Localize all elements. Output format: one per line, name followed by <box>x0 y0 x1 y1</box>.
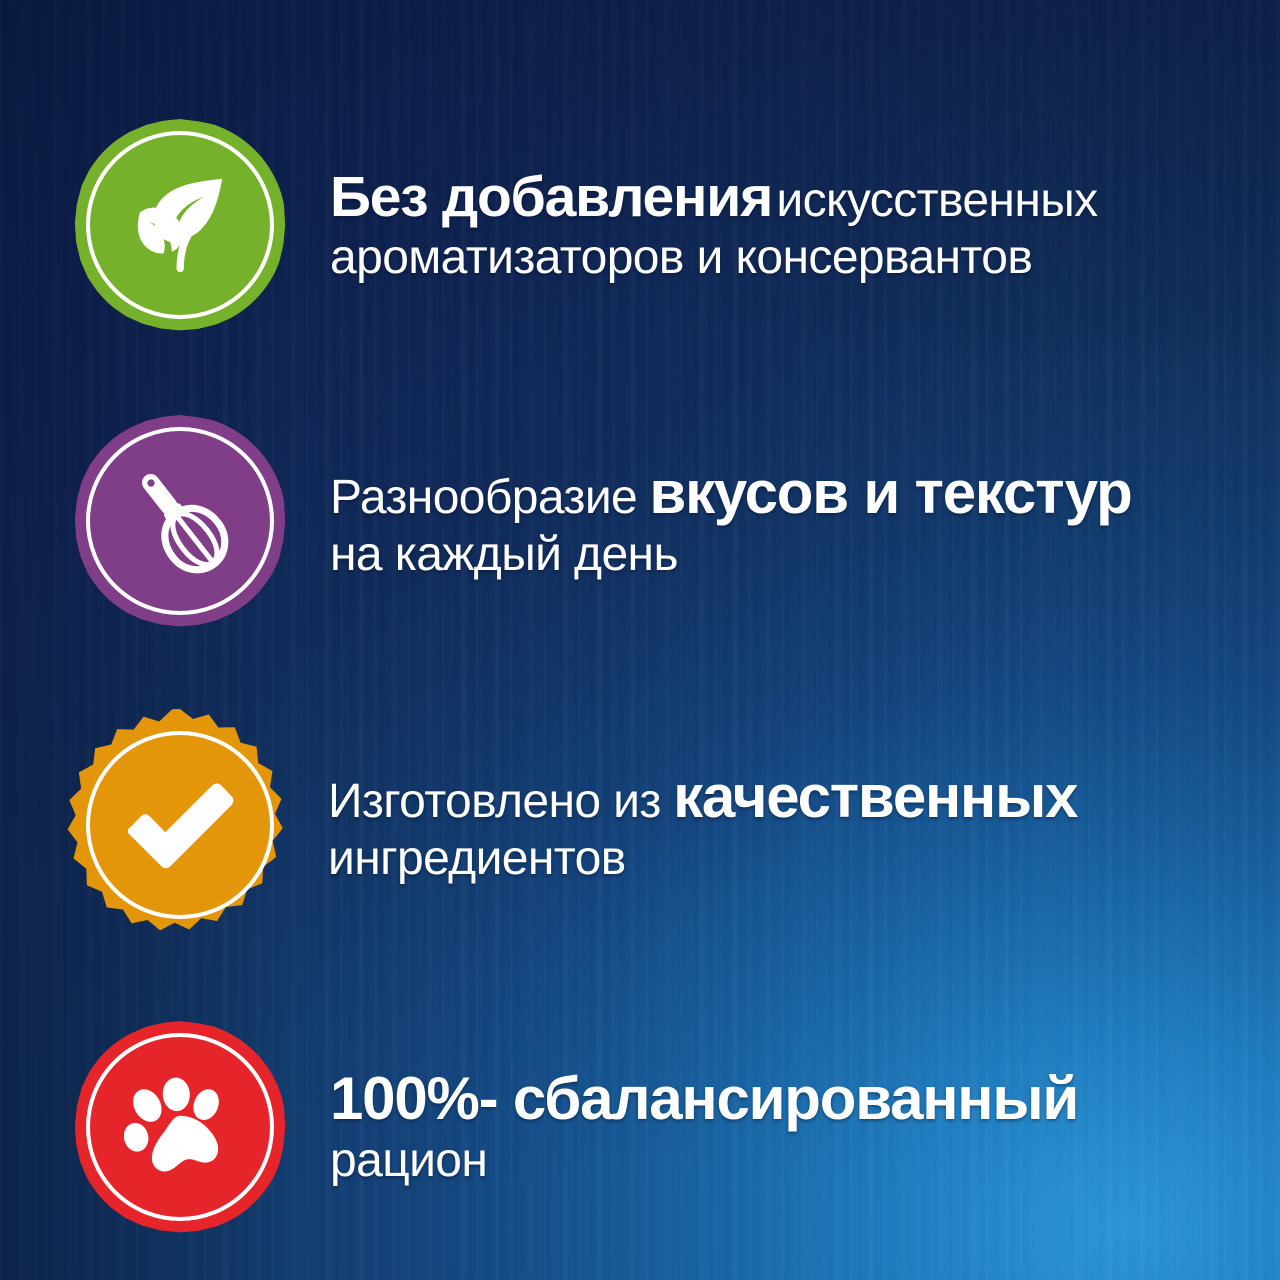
feature-line1-light: искусственных <box>776 174 1097 227</box>
feature-line1-light: Разнообразие <box>330 471 637 524</box>
feature-item-quality-ingredients: Изготовлено из качественных ингредиентов <box>0 700 1280 950</box>
checkmark-badge-icon <box>117 762 243 888</box>
feature-item-balanced-diet: 100%- сбалансированный рацион <box>0 1012 1280 1242</box>
feature-text-quality: Изготовлено из качественных ингредиентов <box>296 765 1280 885</box>
feature-line1-light: Изготовлено из <box>328 775 661 828</box>
feature-line1-strong: Без добавления <box>330 165 772 229</box>
feature-line2: рацион <box>330 1135 1220 1186</box>
whisk-icon <box>119 460 241 582</box>
feature-icon-badge-balanced <box>74 1021 286 1233</box>
feature-icon-badge-variety <box>74 415 286 627</box>
feature-item-variety: Разнообразие вкусов и текстур на каждый … <box>0 406 1280 636</box>
feature-line1-strong: качественных <box>673 763 1077 830</box>
paw-print-icon <box>124 1071 236 1183</box>
feature-text-variety: Разнообразие вкусов и текстур на каждый … <box>286 461 1280 581</box>
feature-text-balanced: 100%- сбалансированный рацион <box>286 1067 1280 1187</box>
feature-line2: ингредиентов <box>328 833 1220 884</box>
feature-icon-badge-no-additives <box>74 119 286 331</box>
feature-item-no-additives: Без добавления искусственных ароматизато… <box>0 110 1280 340</box>
feature-line2: на каждый день <box>330 529 1220 580</box>
feature-list: Без добавления искусственных ароматизато… <box>0 0 1280 1280</box>
feature-text-no-additives: Без добавления искусственных ароматизато… <box>286 167 1280 283</box>
feature-line1-strong: 100%- сбалансированный <box>330 1065 1078 1132</box>
feature-icon-badge-quality <box>64 709 296 941</box>
feature-line1-strong: вкусов и текстур <box>649 459 1131 526</box>
feature-line2: ароматизаторов и консервантов <box>330 232 1220 283</box>
promo-poster: Без добавления искусственных ароматизато… <box>0 0 1280 1280</box>
leaf-sprout-icon <box>119 164 241 286</box>
